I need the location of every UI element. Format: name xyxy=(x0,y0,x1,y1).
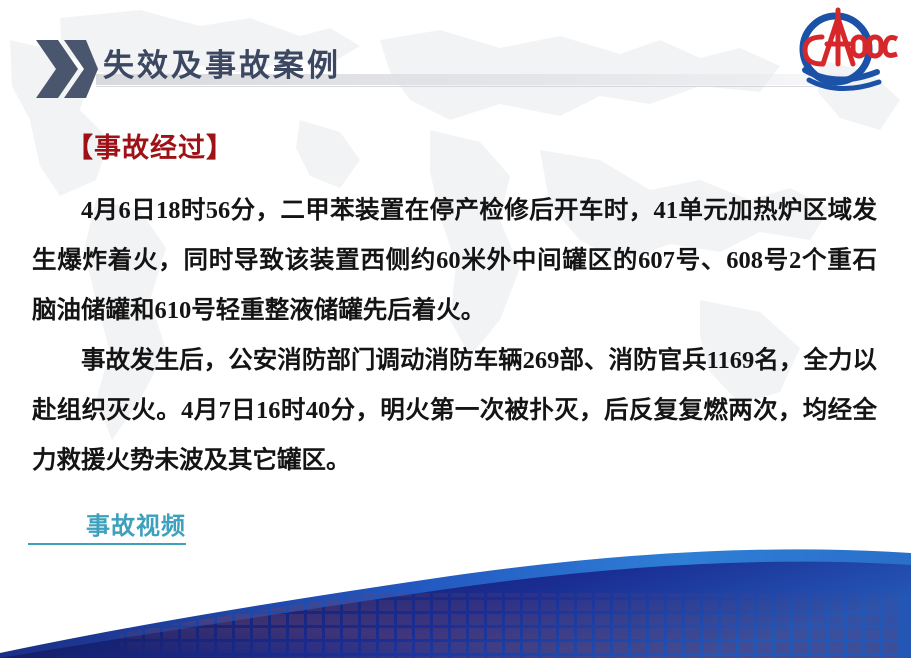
slide-canvas: 失效及事故案例 xyxy=(0,0,911,658)
paragraph-accident-course: 4月6日18时56分，二甲苯装置在停产检修后开车时，41单元加热炉区域发生爆炸着… xyxy=(32,186,877,336)
slide-content: 【事故经过】 4月6日18时56分，二甲苯装置在停产检修后开车时，41单元加热炉… xyxy=(0,118,911,545)
page-title: 失效及事故案例 xyxy=(103,40,341,85)
cnooc-logo xyxy=(781,4,899,100)
paragraph-emergency-response: 事故发生后，公安消防部门调动消防车辆269部、消防官兵1169名，全力以赴组织灭… xyxy=(32,336,877,486)
double-chevron-right-icon xyxy=(34,38,100,100)
slide-header: 失效及事故案例 xyxy=(0,0,911,118)
bottom-swoosh-decoration xyxy=(0,543,911,658)
accident-video-link[interactable]: 事故视频 xyxy=(28,506,186,545)
section-heading: 【事故经过】 xyxy=(66,134,911,164)
body-text-block: 4月6日18时56分，二甲苯装置在停产检修后开车时，41单元加热炉区域发生爆炸着… xyxy=(32,186,877,486)
